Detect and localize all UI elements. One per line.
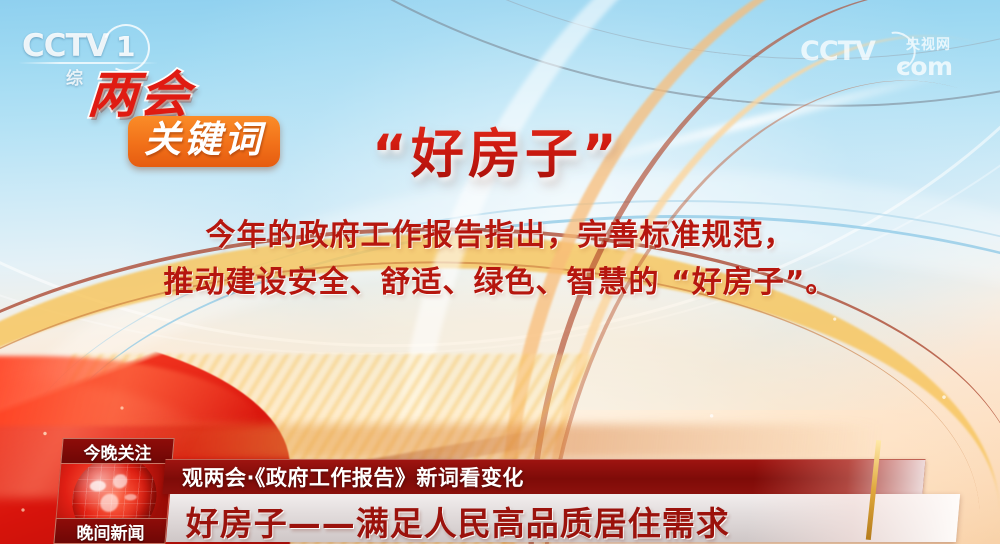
channel-subtitle-zong: 综	[66, 64, 85, 89]
banner-subtitle-bar: 观两会·《政府工作报告》新词看变化	[162, 459, 925, 494]
globe-icon	[56, 464, 173, 518]
lower-third-banner: 今晚关注 晚间新闻 观两会·《政府工作报告》新词看变化 好房子——满足人民高品质…	[0, 432, 1000, 544]
program-focus-bar: 今晚关注	[60, 438, 174, 464]
program-focus-label: 今晚关注	[83, 439, 151, 464]
banner-headline-bar: 好房子——满足人民高品质居住需求	[166, 494, 960, 542]
watermark-cn-name: 央视网	[906, 34, 951, 54]
body-line-2: 推动建设安全、舒适、绿色、智慧的 “好房子”。	[0, 259, 1000, 306]
banner-warm-glow	[118, 424, 882, 460]
keyword-badge-label: 关键词	[144, 120, 264, 160]
watermark-com-text: com	[896, 52, 953, 81]
banner-subtitle-fade	[752, 460, 925, 494]
body-line-1: 今年的政府工作报告指出，完善标准规范，	[0, 212, 1000, 259]
program-name-bar: 晚间新闻	[53, 518, 167, 544]
banner-subtitle-text: 观两会·《政府工作报告》新词看变化	[182, 462, 524, 492]
body-paragraph: 今年的政府工作报告指出，完善标准规范， 推动建设安全、舒适、绿色、智慧的 “好房…	[0, 212, 1000, 307]
program-identity-block: 今晚关注 晚间新闻	[53, 438, 174, 544]
program-name-label: 晚间新闻	[77, 519, 145, 544]
page-title: “好房子”	[372, 112, 621, 188]
globe-landmass	[85, 474, 140, 514]
banner-headline-fade	[746, 494, 960, 542]
watermark-cctv-com: CCTV 央视网 com	[798, 34, 988, 82]
broadcast-screen: CCTV 1 综 CCTV 央视网 com 两会 关键词 “好房子” 今年的政府…	[0, 0, 1000, 544]
keyword-badge: 关键词	[128, 116, 280, 167]
watermark-cctv-text: CCTV	[800, 36, 875, 67]
banner-headline-text: 好房子——满足人民高品质居住需求	[186, 497, 730, 544]
